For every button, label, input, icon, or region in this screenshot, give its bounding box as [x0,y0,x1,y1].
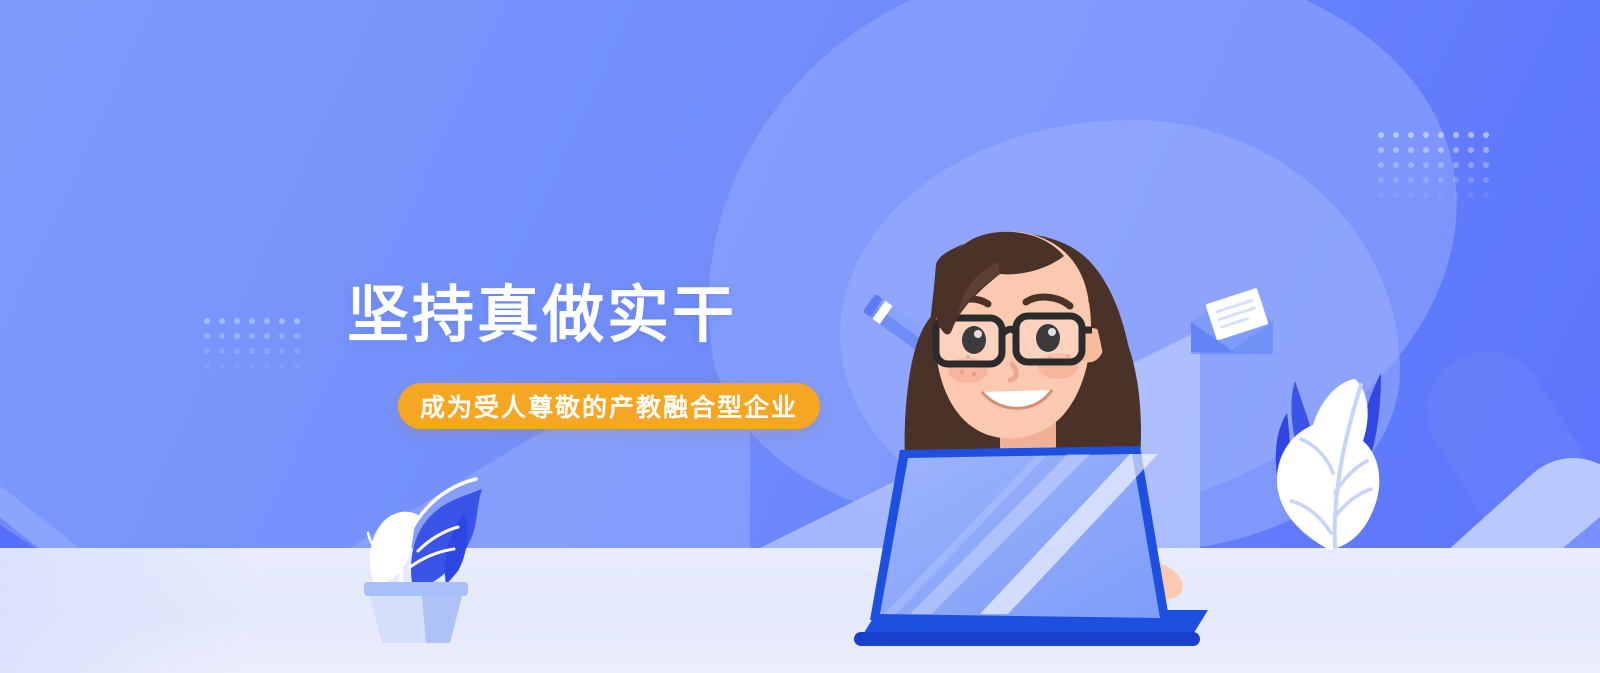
page-title: 坚持真做实干 [347,283,867,348]
hero-banner: 坚持真做实干 成为受人尊敬的产教融合型企业 [0,0,1600,673]
floor-surface [0,548,1600,673]
floor-shadow [0,548,360,673]
subtitle-text: 成为受人尊敬的产教融合型企业 [420,388,798,424]
dot-grid-left [204,318,300,369]
headline-block: 坚持真做实干 [347,283,867,348]
potted-plant-icon [350,455,500,645]
foliage-right-icon [1235,325,1405,560]
person-at-laptop-illustration [840,180,1260,650]
dot-grid-right [1378,132,1489,198]
subtitle-badge: 成为受人尊敬的产教融合型企业 [398,383,820,429]
